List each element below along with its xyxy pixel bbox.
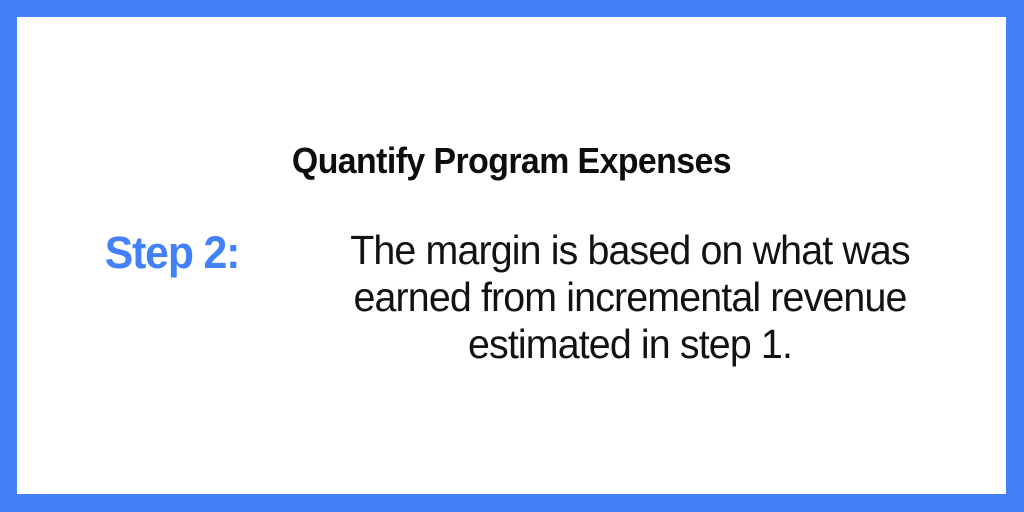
step-description: The margin is based on what was earned f…: [298, 227, 962, 368]
step-description-line: earned from incremental revenue: [298, 274, 962, 321]
slide-frame: Quantify Program Expenses Step 2: The ma…: [0, 0, 1024, 512]
step-description-line: The margin is based on what was: [298, 227, 962, 274]
step-description-line: estimated in step 1.: [298, 321, 962, 368]
page-title: Quantify Program Expenses: [47, 141, 977, 181]
slide-canvas: Quantify Program Expenses Step 2: The ma…: [17, 17, 1006, 494]
step-number-label: Step 2:: [68, 230, 277, 275]
